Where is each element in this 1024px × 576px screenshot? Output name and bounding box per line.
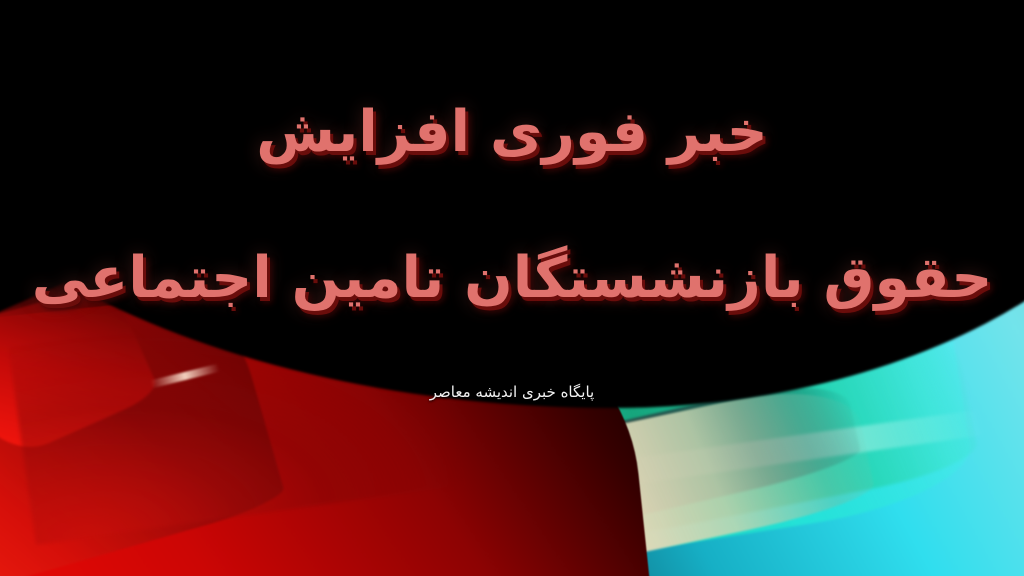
headline-line-1: خبر فوری افزایش	[0, 96, 1024, 168]
slide-content: خبر فوری افزایش حقوق بازنشستگان تامین اج…	[0, 0, 1024, 576]
headline-line-2: حقوق بازنشستگان تامین اجتماعی	[0, 242, 1024, 314]
slide-canvas: خبر فوری افزایش حقوق بازنشستگان تامین اج…	[0, 0, 1024, 576]
source-caption: پایگاه خبری اندیشه معاصر	[0, 381, 1024, 403]
